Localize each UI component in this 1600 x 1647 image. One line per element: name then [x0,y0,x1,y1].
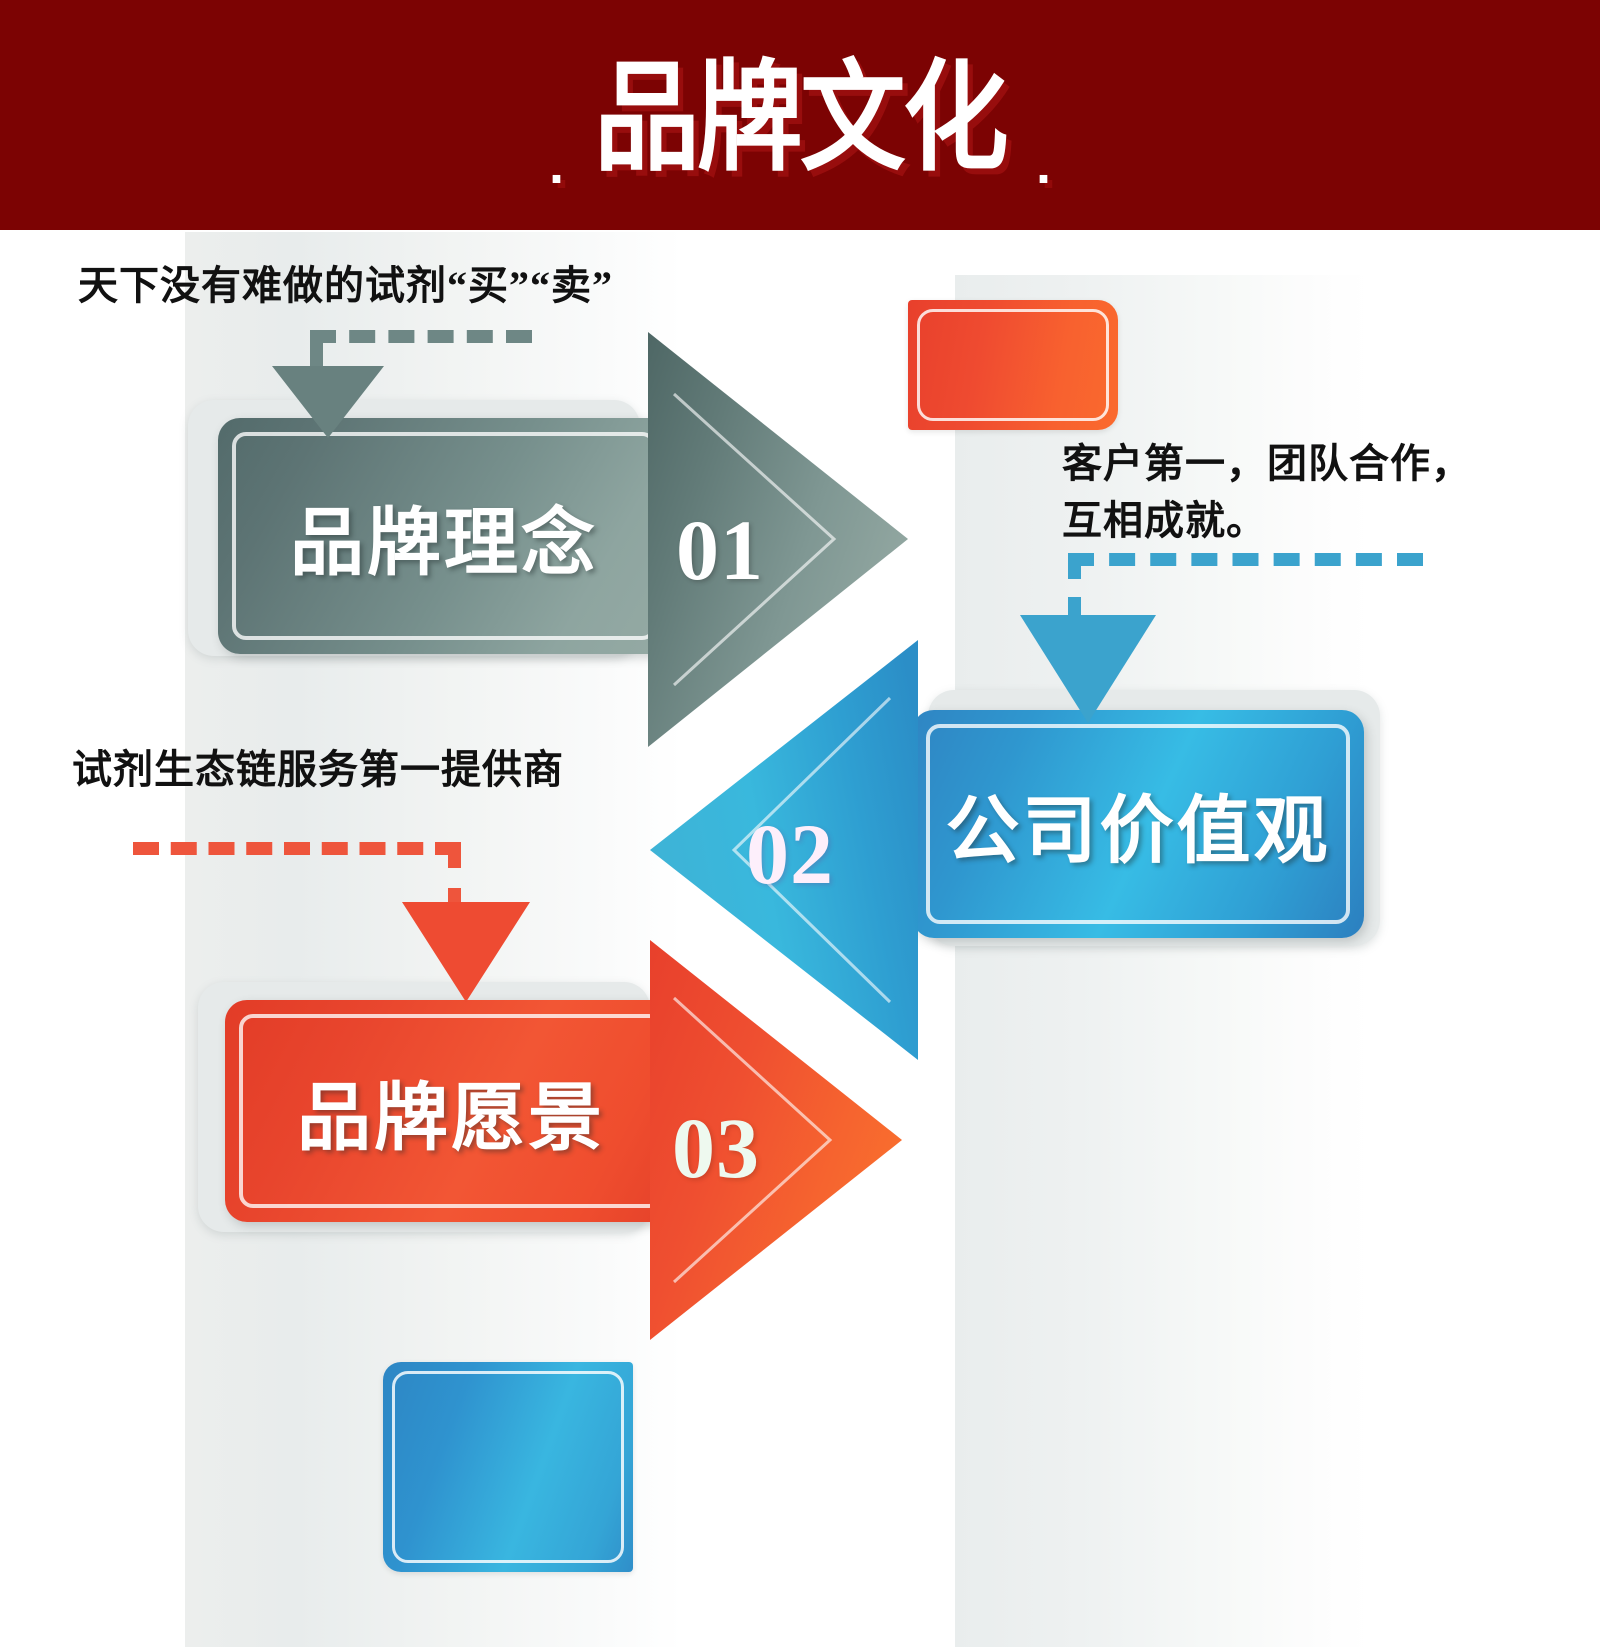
decorative-box-orange [908,300,1118,430]
brand-concept-annotation: 天下没有难做的试剂“买”“卖” [78,258,613,315]
brand-concept-box[interactable]: 品牌理念 [218,418,670,654]
title-left-dot: . [549,152,564,179]
brand-vision-label: 品牌愿景 [225,1000,677,1222]
header-banner: . 品牌文化 . [0,0,1600,230]
connector-02-vertical [1068,553,1081,623]
connector-02-arrowhead [1020,615,1156,723]
brand-concept-label: 品牌理念 [218,418,670,654]
step-number-01: 01 [676,500,764,600]
connector-01-arrowhead [272,366,384,438]
connector-03-horizontal [133,842,461,855]
brand-vision-box[interactable]: 品牌愿景 [225,1000,677,1222]
decorative-box-blue [383,1362,633,1572]
connector-02-horizontal [1068,553,1423,566]
connector-01-horizontal [310,330,532,343]
company-values-label: 公司价值观 [912,710,1364,938]
page-title: 品牌文化 [594,59,1006,179]
company-values-annotation: 客户第一，团队合作， 互相成就。 [1062,436,1472,550]
title-wrap: . 品牌文化 . [549,59,1051,179]
brand-vision-annotation: 试剂生态链服务第一提供商 [72,742,564,799]
company-values-box[interactable]: 公司价值观 [912,710,1364,938]
header-title-row: . 品牌文化 . [0,0,1600,230]
step-number-02: 02 [746,804,834,904]
step-number-03: 03 [672,1098,760,1198]
title-right-dot: . [1036,152,1051,179]
decorative-box-blue-stroke [392,1371,624,1563]
step-arrow-03[interactable]: 03 [650,940,902,1340]
decorative-box-orange-stroke [917,309,1109,421]
brand-culture-infographic: . 品牌文化 . 品牌理念 [0,0,1600,1647]
connector-03-arrowhead [402,902,530,1002]
